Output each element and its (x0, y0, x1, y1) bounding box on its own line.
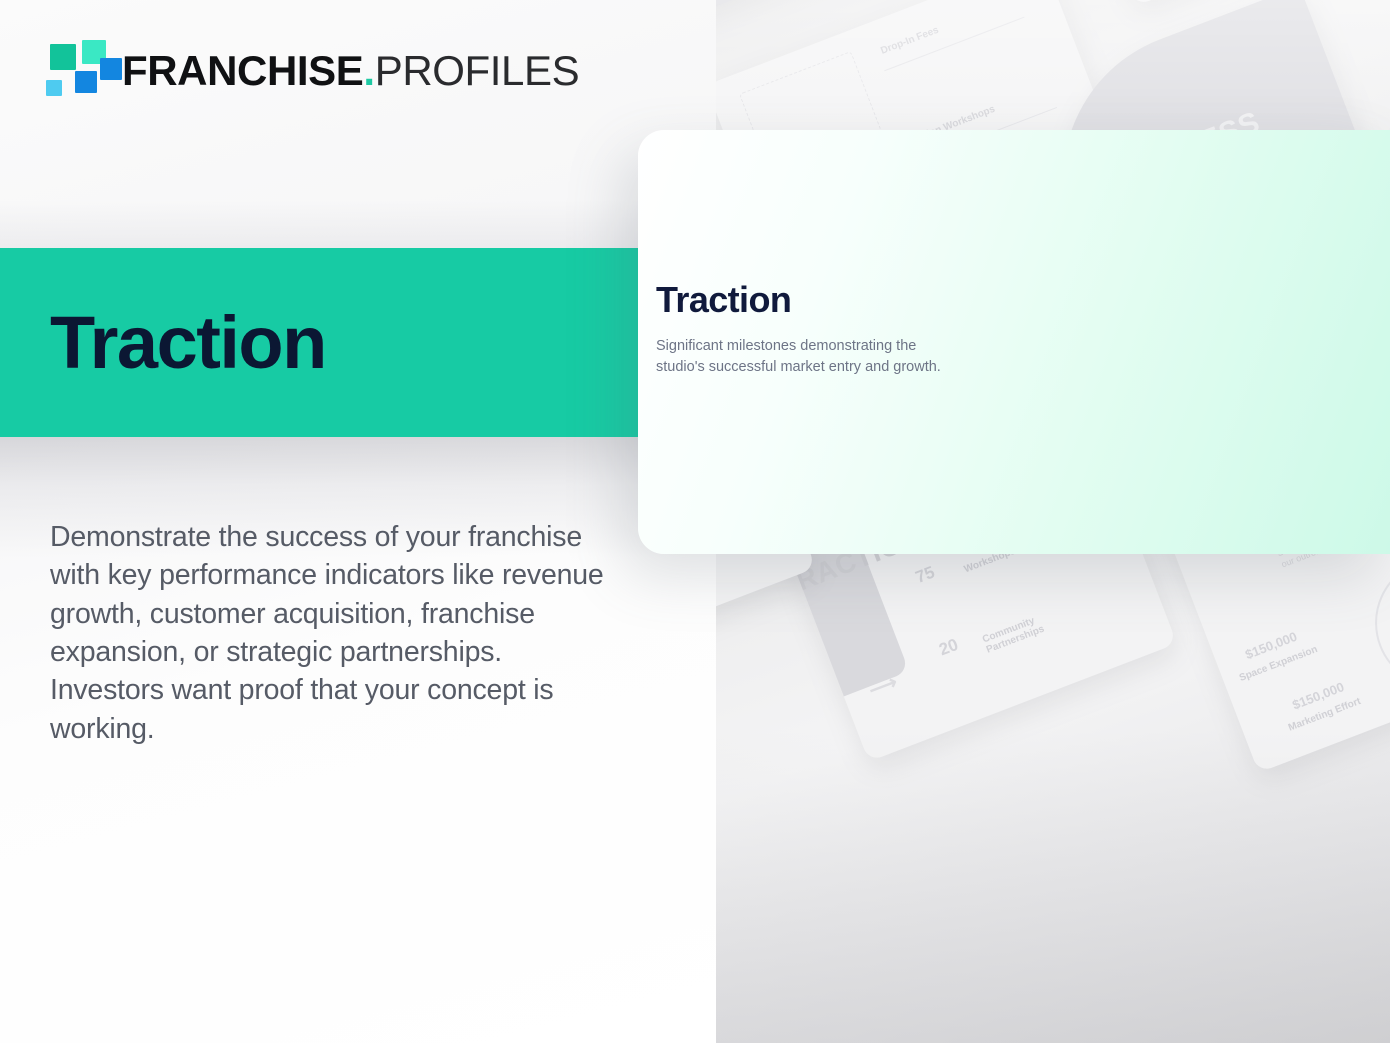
brand-name-dot: . (363, 47, 374, 94)
metric-row: Monthly Visitors 1,000 (1006, 166, 1390, 286)
traction-preview-card: Traction Significant milestones demonstr… (638, 130, 1390, 554)
metric-row: Workshops Held 75 (1006, 286, 1390, 406)
hero-banner: Traction (0, 248, 638, 437)
deck-metric-value: 20 (936, 635, 961, 660)
card-text-block: Traction Significant milestones demonstr… (656, 282, 986, 377)
card-subtitle: Significant milestones demonstrating the… (656, 336, 956, 377)
metrics-list: Monthly Visitors 1,000 Workshops Held 75… (1006, 166, 1390, 526)
card-title: Traction (656, 282, 986, 318)
deck-metric-value: 75 (913, 562, 938, 587)
brand-name-light: PROFILES (375, 47, 580, 94)
brand-name-strong: FRANCHISE (122, 47, 363, 94)
page-title: Traction (50, 306, 326, 380)
donut-chart-icon (1356, 539, 1390, 707)
metric-row: Community Partnerships 20 (1006, 406, 1390, 526)
deck-slide-problem: Lack of Accessibility High Cost ⌽ ⌛ Limi… (1046, 0, 1390, 6)
brand-logo[interactable]: FRANCHISE.PROFILES (46, 40, 579, 102)
slide-page: Lack of Accessibility High Cost ⌽ ⌛ Limi… (0, 0, 1390, 1043)
hero-description: Demonstrate the success of your franchis… (50, 518, 622, 748)
brand-wordmark: FRANCHISE.PROFILES (122, 50, 579, 92)
logo-mark-icon (46, 40, 106, 102)
deck-metric-label: Community Partnerships (981, 596, 1092, 656)
top-shadow-wash (0, 200, 716, 252)
